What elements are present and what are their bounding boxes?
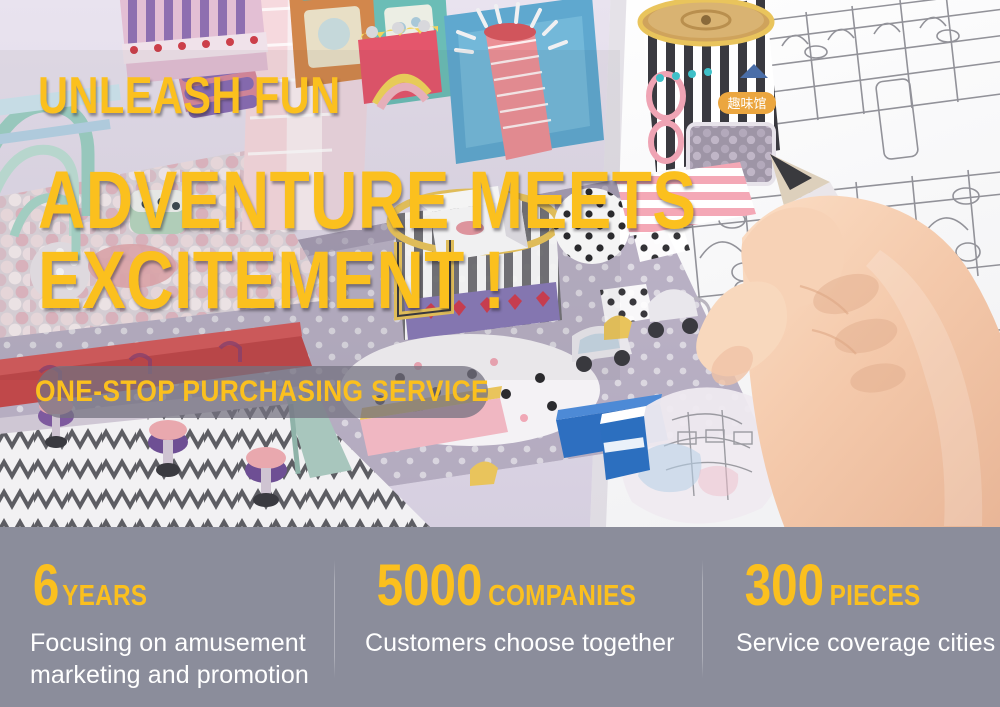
stat-headline: 300 PIECES [736,557,1000,615]
one-stop-service-badge[interactable]: ONE-STOP PURCHASING SERVICE [36,366,488,418]
stat-unit: YEARS [62,582,147,611]
stat-description: Focusing on amusement marketing and prom… [30,627,335,691]
blue-book [600,406,650,480]
hero-photo: 趣味馆 [0,0,1000,527]
playground-scene-illustration: 趣味馆 [0,0,1000,527]
striped-cylinder: 趣味馆 [640,0,780,184]
stat-description: Service coverage cities [736,627,1000,659]
stat-number: 5000 [377,557,483,615]
promo-banner: 趣味馆 [0,0,1000,707]
stat-description: Customers choose together [365,627,703,659]
badge-label: ONE-STOP PURCHASING SERVICE [35,377,489,407]
stat-item-pieces: 300 PIECES Service coverage cities [703,527,1000,707]
stat-unit: COMPANIES [488,582,636,611]
stat-unit: PIECES [829,582,920,611]
stat-headline: 5000 COMPANIES [365,557,703,615]
stats-bar: 6 YEARS Focusing on amusement marketing … [0,527,1000,707]
stat-number: 6 [33,557,59,615]
stat-headline: 6 YEARS [30,557,335,615]
stat-item-companies: 5000 COMPANIES Customers choose together [335,527,703,707]
stat-item-years: 6 YEARS Focusing on amusement marketing … [0,527,335,707]
svg-text:趣味馆: 趣味馆 [727,96,766,111]
stat-number: 300 [745,557,824,615]
